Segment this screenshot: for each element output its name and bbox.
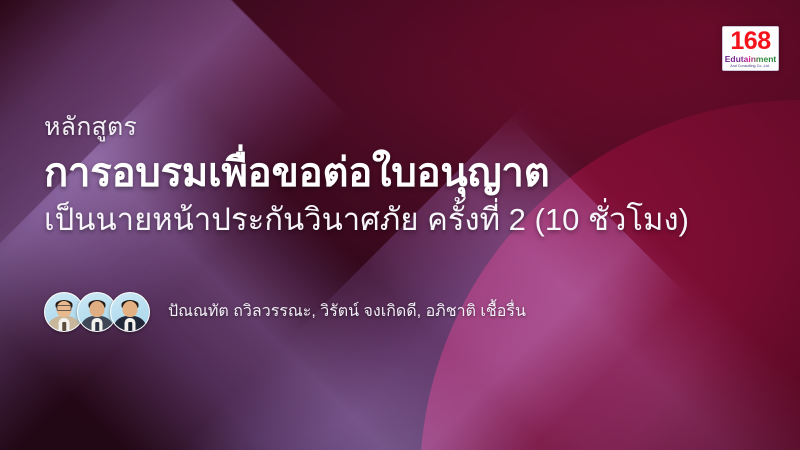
speakers-row: ปัณณทัต ถวิลวรรณะ, วิรัตน์ จงเกิดดี, อภิ… — [44, 292, 526, 332]
logo-number-text: 168 — [730, 28, 770, 54]
logo-tagline-text: And Consulting Co.,Ltd. — [731, 64, 771, 69]
page-subtitle: เป็นนายหน้าประกันวินาศภัย ครั้งที่ 2 (10… — [44, 201, 744, 239]
speaker-names: ปัณณทัต ถวิลวรรณะ, วิรัตน์ จงเกิดดี, อภิ… — [168, 302, 526, 322]
speaker-avatar-group — [44, 292, 150, 332]
slide-canvas: 168 Edutainment And Consulting Co.,Ltd. … — [0, 0, 800, 450]
page-title: การอบรมเพื่อขอต่อใบอนุญาต — [44, 150, 744, 196]
brand-logo: 168 Edutainment And Consulting Co.,Ltd. — [722, 26, 779, 71]
logo-wordmark-text: Edutainment — [725, 55, 776, 64]
headline-block: หลักสูตร การอบรมเพื่อขอต่อใบอนุญาต เป็นน… — [44, 112, 744, 239]
course-eyebrow-label: หลักสูตร — [44, 112, 744, 142]
speaker-avatar-3 — [110, 292, 150, 332]
